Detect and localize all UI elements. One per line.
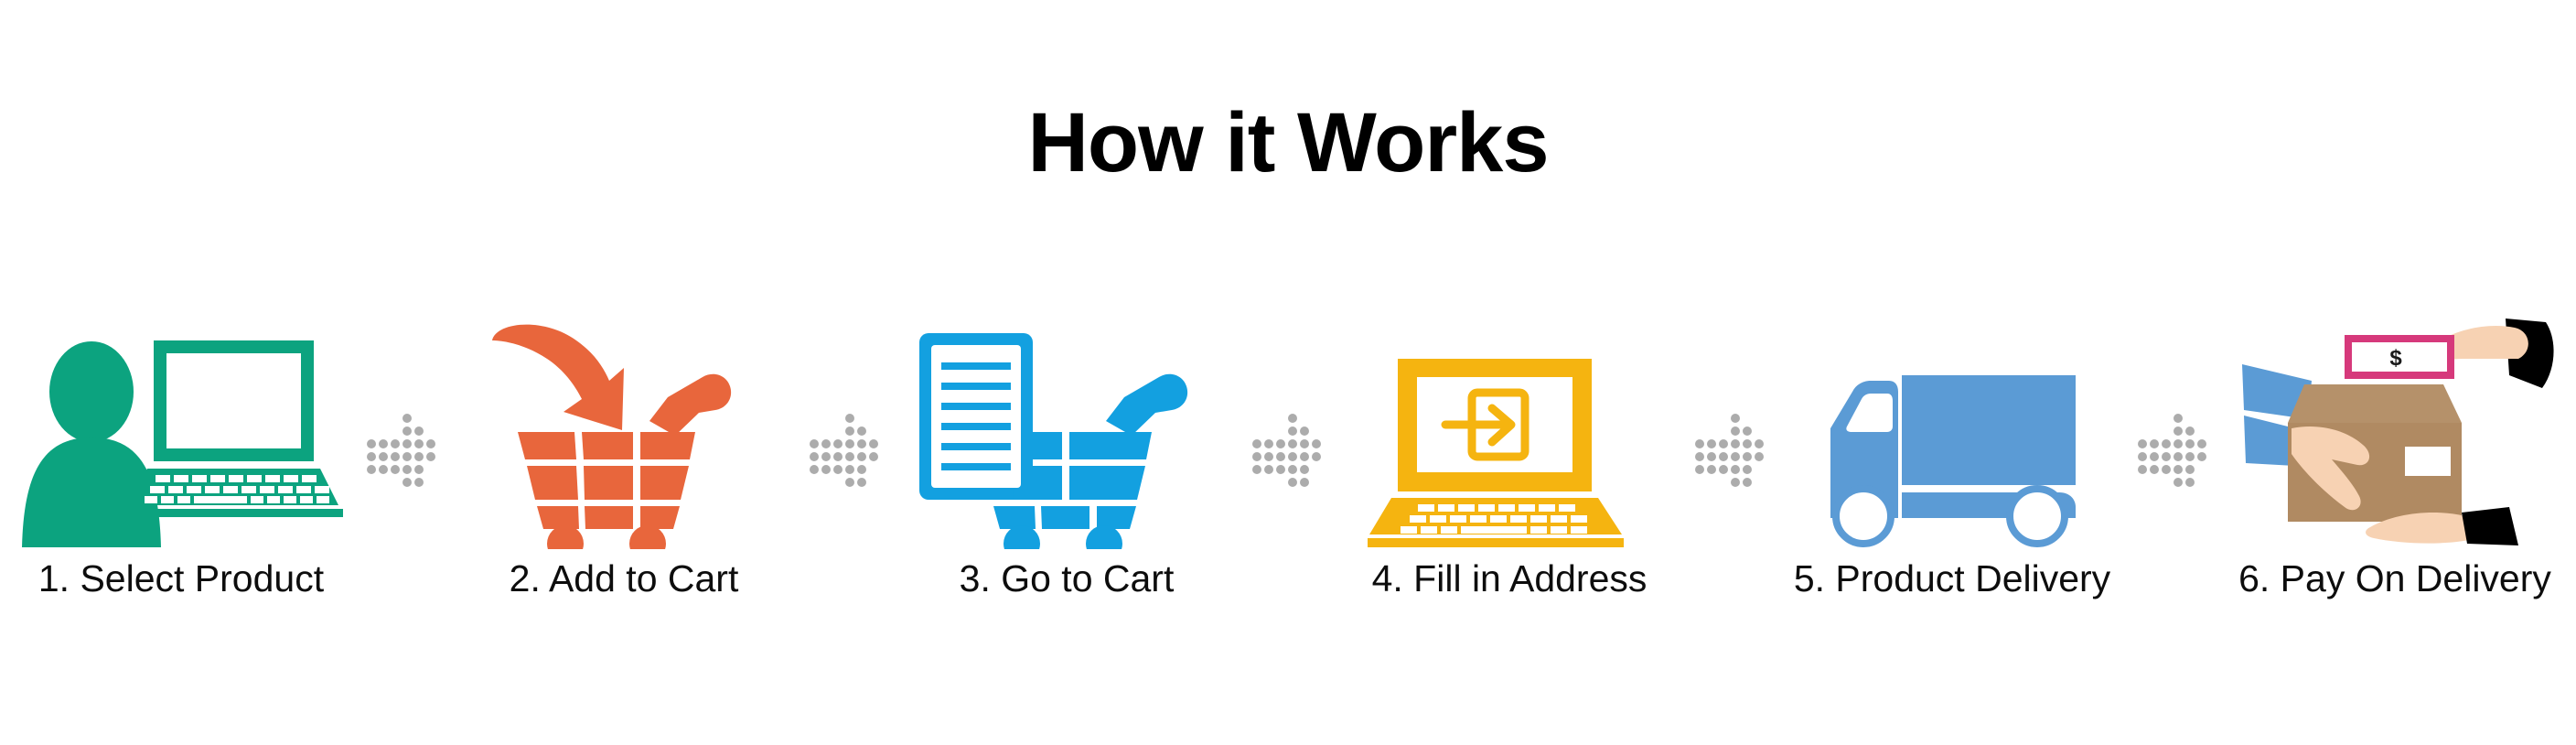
step-caption: 2. Add to Cart (510, 558, 739, 599)
step-6-pay-on-delivery[interactable]: $ (2212, 302, 2576, 668)
step-4-fill-in-address[interactable]: 4. Fill in Address (1326, 302, 1692, 668)
black-sleeve-lower (2462, 507, 2518, 545)
dotted-arrow-right-icon (364, 302, 441, 668)
delivery-truck-icon (1769, 302, 2135, 549)
step-3-go-to-cart[interactable]: 3. Go to Cart (884, 302, 1250, 668)
step-caption: 1. Select Product (38, 558, 324, 599)
step-caption: 4. Fill in Address (1372, 558, 1648, 599)
step-caption: 3. Go to Cart (960, 558, 1175, 599)
dotted-arrow-right-icon (1250, 302, 1326, 668)
step-1-select-product[interactable]: 1. Select Product (0, 302, 364, 668)
box-label (2405, 447, 2451, 476)
arrow-into-cart-icon (441, 302, 807, 549)
step-5-product-delivery[interactable]: 5. Product Delivery (1769, 302, 2135, 668)
cash-on-delivery-icon: $ (2212, 302, 2576, 549)
banknote-symbol: $ (2389, 346, 2402, 371)
box-top (2288, 384, 2462, 423)
dotted-arrow-right-icon (807, 302, 884, 668)
dotted-arrow-right-icon (2135, 302, 2212, 668)
page-title: How it Works (0, 101, 2576, 185)
step-2-add-to-cart[interactable]: 2. Add to Cart (441, 302, 807, 668)
document-and-cart-icon (884, 302, 1250, 549)
person-at-laptop-icon (0, 302, 364, 549)
step-caption: 5. Product Delivery (1794, 558, 2110, 599)
how-it-works-infographic: How it Works (0, 0, 2576, 745)
dotted-arrow-right-icon (1692, 302, 1769, 668)
steps-row: 1. Select Product (0, 302, 2576, 668)
banknote: $ (2345, 335, 2454, 379)
step-caption: 6. Pay On Delivery (2238, 558, 2551, 599)
laptop-login-icon (1326, 302, 1692, 549)
